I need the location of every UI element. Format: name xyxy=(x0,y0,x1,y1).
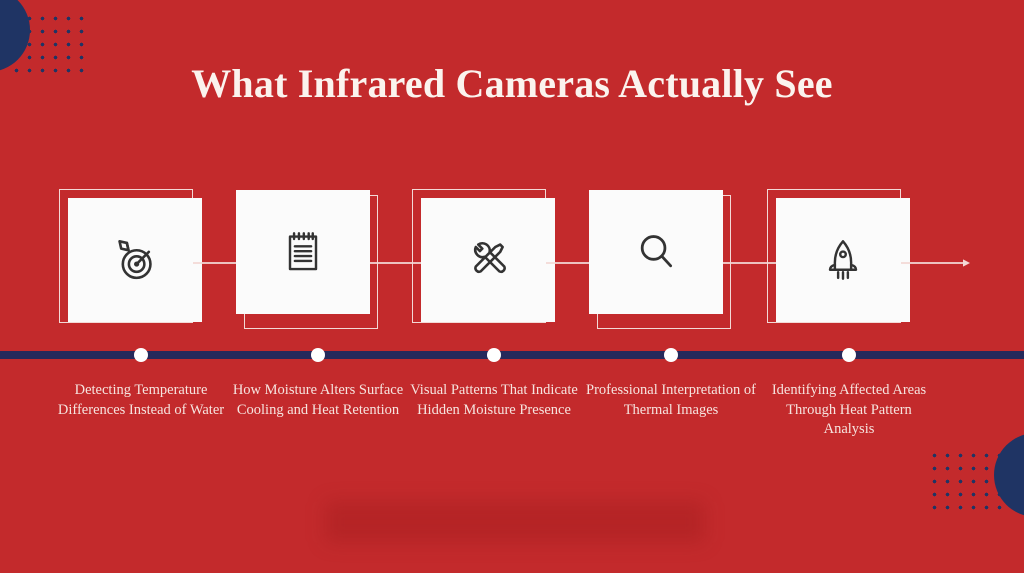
timeline-dot xyxy=(311,348,325,362)
notepad-icon xyxy=(277,226,329,278)
step-5: Identifying Affected Areas Through Heat … xyxy=(761,0,937,573)
step-1: Detecting Temperature Differences Instea… xyxy=(53,0,229,573)
step-caption: Detecting Temperature Differences Instea… xyxy=(53,381,229,420)
step-4: Professional Interpretation of Thermal I… xyxy=(583,0,759,573)
infographic-slide: What Infrared Cameras Actually See Detec… xyxy=(0,0,1024,573)
magnifier-icon xyxy=(630,226,682,278)
step-icon-card[interactable] xyxy=(589,190,723,314)
step-icon-card[interactable] xyxy=(68,198,202,322)
timeline-dot xyxy=(134,348,148,362)
timeline-dot xyxy=(842,348,856,362)
step-caption: Professional Interpretation of Thermal I… xyxy=(583,381,759,420)
step-list: Detecting Temperature Differences Instea… xyxy=(0,0,1024,573)
step-caption: Identifying Affected Areas Through Heat … xyxy=(761,381,937,440)
tools-icon xyxy=(462,234,514,286)
timeline-dot xyxy=(487,348,501,362)
step-caption: How Moisture Alters Surface Cooling and … xyxy=(230,381,406,420)
step-2: How Moisture Alters Surface Cooling and … xyxy=(230,0,406,573)
step-icon-card[interactable] xyxy=(421,198,555,322)
timeline-dot xyxy=(664,348,678,362)
step-icon-card[interactable] xyxy=(776,198,910,322)
target-icon xyxy=(109,234,161,286)
step-connector-arrow-icon xyxy=(901,258,977,268)
step-3: Visual Patterns That Indicate Hidden Moi… xyxy=(406,0,582,573)
step-icon-card[interactable] xyxy=(236,190,370,314)
rocket-icon xyxy=(817,234,869,286)
step-caption: Visual Patterns That Indicate Hidden Moi… xyxy=(406,381,582,420)
